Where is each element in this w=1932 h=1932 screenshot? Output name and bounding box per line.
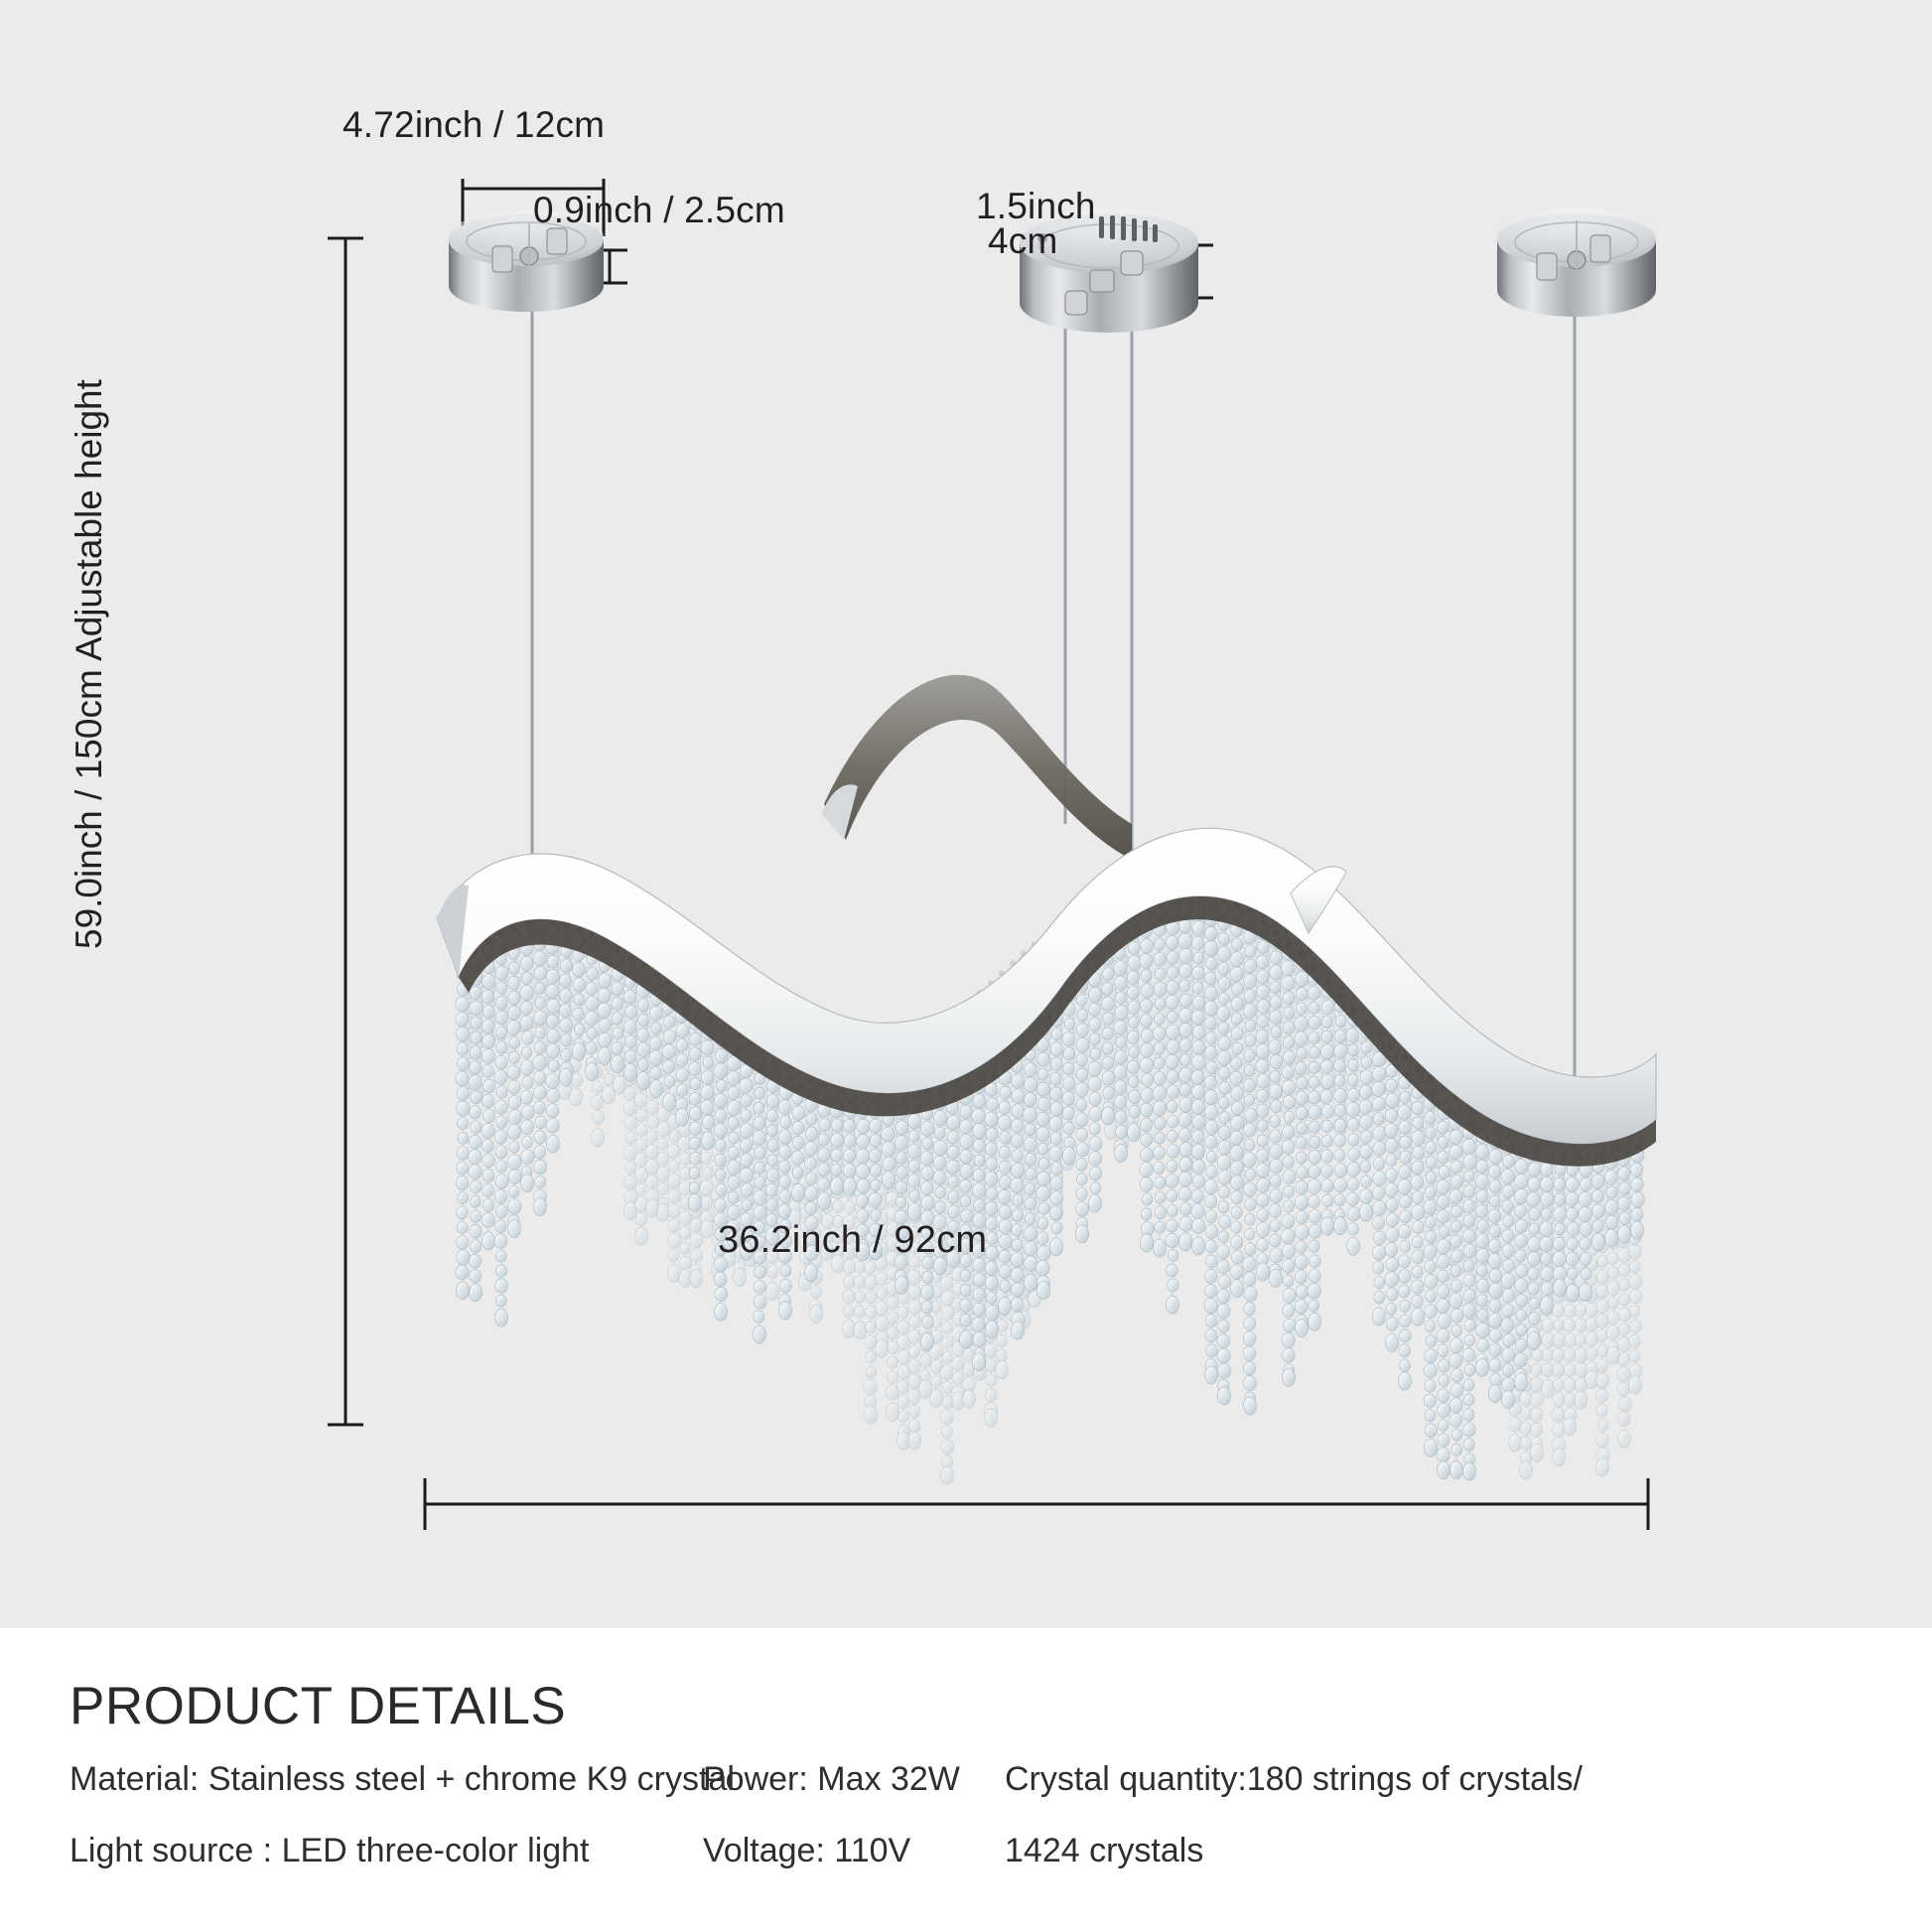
details-column-electrical: Power: Max 32W Voltage: 110V	[703, 1762, 1001, 1905]
detail-power: Power: Max 32W	[703, 1762, 1001, 1796]
dimension-drawing	[0, 0, 1932, 1628]
label-canopy2-height-cm: 4cm	[988, 220, 1058, 262]
detail-voltage: Voltage: 110V	[703, 1834, 1001, 1867]
detail-light-source: Light source : LED three-color light	[69, 1834, 705, 1867]
label-fixture-width: 36.2inch / 92cm	[718, 1219, 987, 1262]
details-column-crystal: Crystal quantity:180 strings of crystals…	[1005, 1762, 1898, 1905]
product-details-title: PRODUCT DETAILS	[69, 1676, 566, 1736]
product-details-panel: PRODUCT DETAILS Material: Stainless stee…	[0, 1628, 1932, 1932]
details-column-material: Material: Stainless steel + chrome K9 cr…	[69, 1762, 705, 1905]
label-canopy-width: 4.72inch / 12cm	[343, 104, 605, 146]
product-dimension-diagram: 4.72inch / 12cm 0.9inch / 2.5cm 1.5inch …	[0, 0, 1932, 1628]
label-canopy1-height: 0.9inch / 2.5cm	[533, 190, 785, 231]
detail-crystal-count: 1424 crystals	[1005, 1834, 1898, 1867]
detail-crystal-quantity: Crystal quantity:180 strings of crystals…	[1005, 1762, 1898, 1796]
detail-material: Material: Stainless steel + chrome K9 cr…	[69, 1762, 705, 1796]
label-drop-height: 59.0inch / 150cm Adjustable height	[69, 393, 110, 949]
canopy-right	[1497, 208, 1656, 317]
